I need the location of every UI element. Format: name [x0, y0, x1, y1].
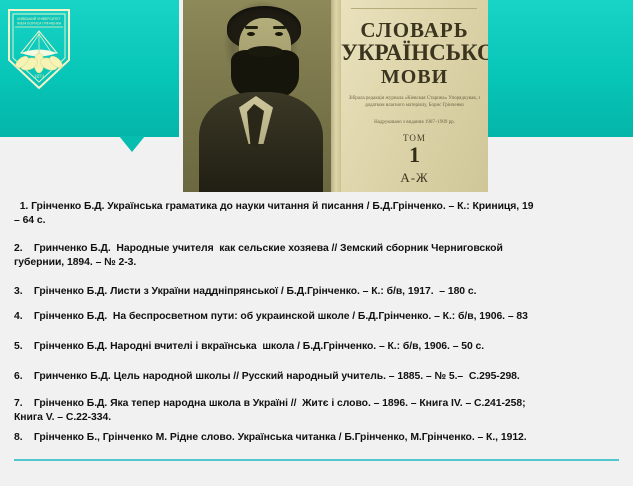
bibliography-item: 8. Грінченко Б., Грінченко М. Рідне слов…	[14, 431, 633, 445]
dictionary-book-cover: СЛОВАРЬ УКРАЇНСЬКОЇ МОВИ Зібрала редакці…	[341, 0, 488, 192]
book-title-line2: УКРАЇНСЬКОЇ	[341, 40, 488, 66]
book-letter-range: А-Ж	[341, 170, 488, 186]
university-crest-icon: КИЇВСЬКИЙ УНІВЕРСИТЕТ ІМЕНІ БОРИСА ГРІНЧ…	[7, 8, 71, 90]
svg-text:ІМЕНІ БОРИСА ГРІНЧЕНКА: ІМЕНІ БОРИСА ГРІНЧЕНКА	[17, 22, 62, 26]
book-title-line3: МОВИ	[341, 66, 488, 89]
bibliography-item: 2. Гринченко Б.Д. Народные учителя как с…	[14, 242, 633, 269]
bibliography-item: 4. Грінченко Б.Д. На беспросветном пути:…	[14, 310, 633, 324]
banner-right	[488, 0, 633, 137]
bibliography-item: 1. Грінченко Б.Д. Українська граматика д…	[14, 200, 633, 227]
bibliography-item: 7. Грінченко Б.Д. Яка тепер народна школ…	[14, 397, 633, 424]
photo-seam	[331, 0, 341, 192]
bibliography-item: 6. Гринченко Б.Д. Цель народной школы //…	[14, 370, 633, 384]
slide-canvas: КИЇВСЬКИЙ УНІВЕРСИТЕТ ІМЕНІ БОРИСА ГРІНЧ…	[0, 0, 633, 486]
bottom-divider	[14, 459, 619, 461]
bibliography-item: 5. Грінченко Б.Д. Народні вчителі і вкра…	[14, 340, 633, 354]
book-top-rule	[351, 8, 477, 9]
book-edition-note: Надруковано з видання 1907–1909 рр.	[341, 120, 488, 125]
portrait-eye-right	[275, 32, 283, 36]
banner-notch	[119, 136, 145, 152]
svg-text:КИЇВСЬКИЙ УНІВЕРСИТЕТ: КИЇВСЬКИЙ УНІВЕРСИТЕТ	[17, 17, 61, 21]
svg-text:1874: 1874	[34, 75, 45, 80]
book-volume-number: 1	[341, 142, 488, 168]
hrinchenko-photo-montage: СЛОВАРЬ УКРАЇНСЬКОЇ МОВИ Зібрала редакці…	[183, 0, 488, 192]
bibliography-item: 3. Грінченко Б.Д. Листи з України наддні…	[14, 285, 633, 299]
book-subtitle: Зібрала редакція журнала «Кіевская Стари…	[341, 95, 488, 109]
portrait-brow-left	[245, 26, 258, 29]
portrait-eye-left	[247, 32, 255, 36]
portrait-moustache	[247, 46, 283, 57]
portrait-brow-right	[273, 26, 286, 29]
bibliography-list: 1. Грінченко Б.Д. Українська граматика д…	[0, 192, 633, 454]
portrait-photo	[183, 0, 331, 192]
